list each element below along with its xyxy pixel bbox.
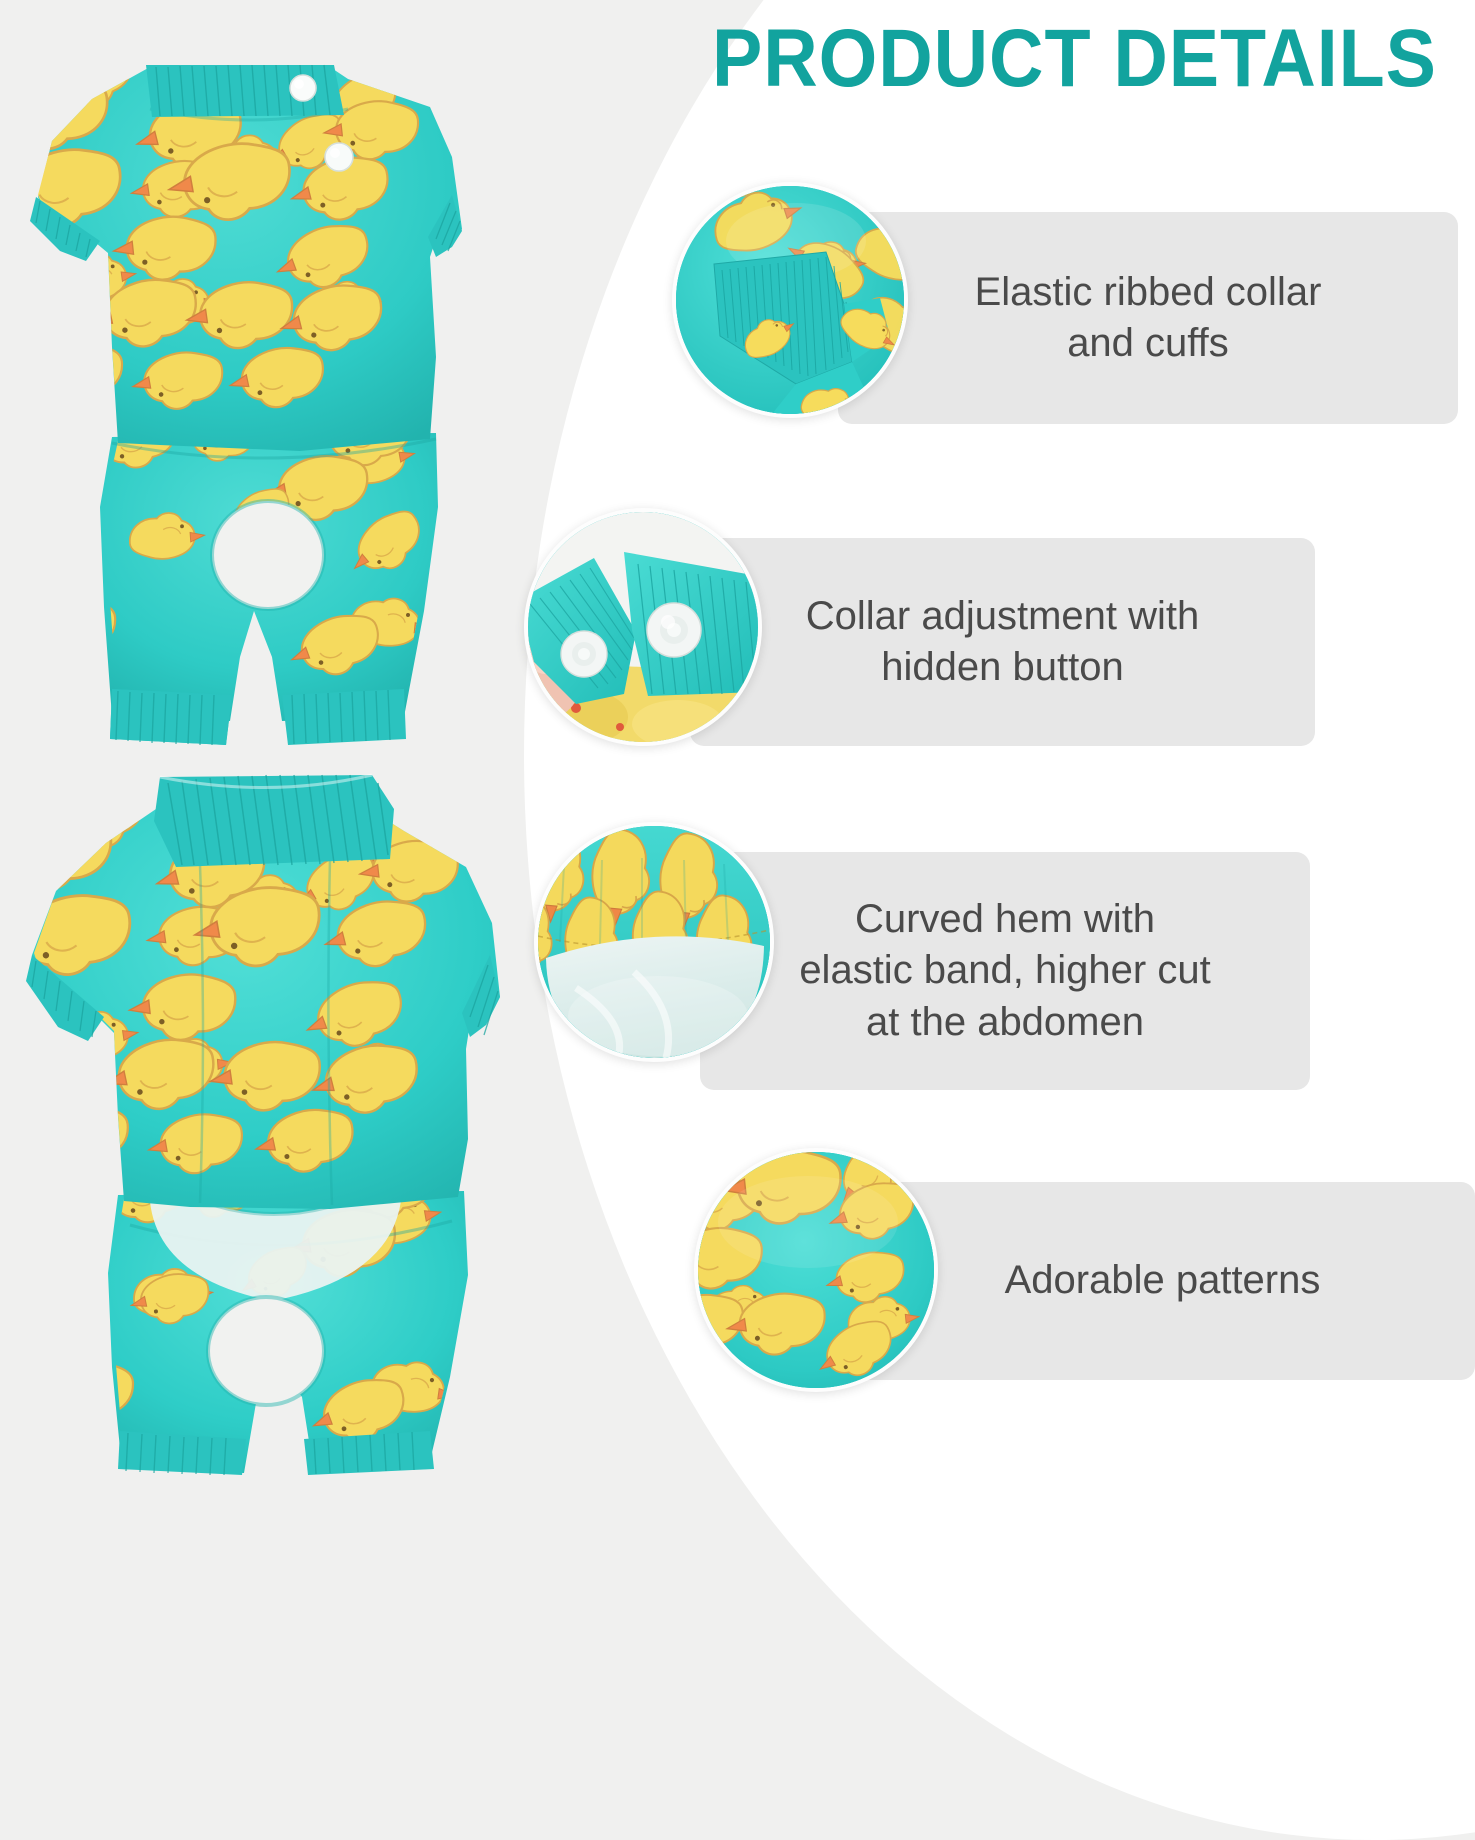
- snap-button-top-1: [290, 75, 316, 101]
- feature-label-4-line1: Adorable patterns: [1005, 1258, 1321, 1302]
- feature-label-4: Adorable patterns: [850, 1182, 1475, 1380]
- cuff-fabric: [676, 186, 904, 414]
- feature-label-2-line2: hidden button: [881, 645, 1123, 689]
- feature-label-3-text: Curved hem with elastic band, higher cut…: [726, 894, 1284, 1048]
- feature-label-1: Elastic ribbed collar and cuffs: [838, 212, 1458, 424]
- curved-hem-closeup-photo: [534, 822, 774, 1062]
- collar-button-closeup-photo: [524, 508, 762, 746]
- collar-fabric: [528, 512, 758, 742]
- feature-label-2-text: Collar adjustment with hidden button: [716, 591, 1289, 693]
- pattern-fabric: [698, 1152, 934, 1388]
- feature-label-4-text: Adorable patterns: [876, 1255, 1449, 1306]
- feature-label-2-line1: Collar adjustment with: [806, 594, 1200, 638]
- product-photo-bottom: [0, 755, 540, 1475]
- feature-label-1-line2: and cuffs: [1067, 321, 1229, 365]
- product-photo-top: [0, 45, 500, 745]
- page-title: PRODUCT DETAILS: [712, 14, 1411, 104]
- cuff-closeup-photo: [672, 182, 908, 418]
- feature-label-3-line2: elastic band, higher cut: [799, 948, 1210, 992]
- hem-fabric: [538, 826, 770, 1058]
- feature-label-3: Curved hem with elastic band, higher cut…: [700, 852, 1310, 1090]
- feature-label-3-line3: at the abdomen: [866, 1000, 1144, 1044]
- feature-label-1-line1: Elastic ribbed collar: [975, 270, 1322, 314]
- feature-label-1-text: Elastic ribbed collar and cuffs: [864, 267, 1432, 369]
- duck-pattern-closeup-photo: [694, 1148, 938, 1392]
- snap-button-top-2: [325, 143, 353, 171]
- feature-label-2: Collar adjustment with hidden button: [690, 538, 1315, 746]
- feature-label-3-line1: Curved hem with: [855, 897, 1155, 941]
